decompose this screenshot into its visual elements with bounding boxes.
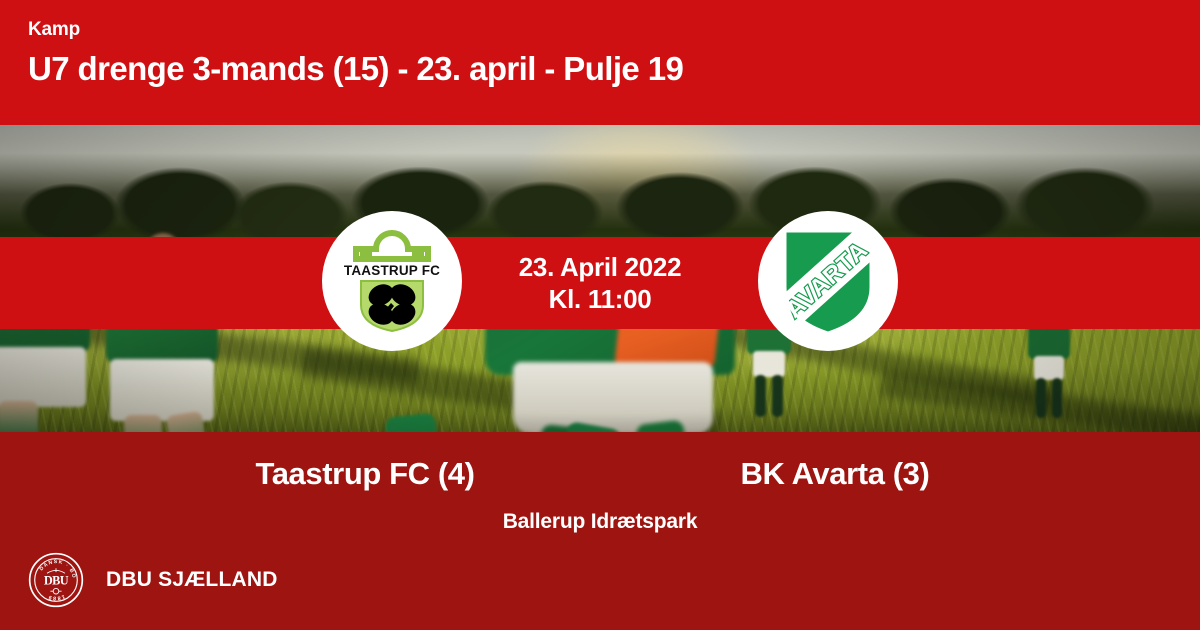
bk-avarta-crest-icon: AVARTA [775, 225, 881, 337]
match-date-band: 23. April 2022 Kl. 11:00 [0, 237, 1200, 329]
poster-header: Kamp U7 drenge 3-mands (15) - 23. april … [0, 0, 1200, 125]
photo-player-leg [560, 425, 710, 432]
away-team-crest: AVARTA [758, 211, 898, 351]
team-names-row: Taastrup FC (4) BK Avarta (3) [0, 456, 1200, 492]
home-team-name: Taastrup FC (4) [150, 456, 580, 492]
footer: DANSK · BOLDSPIL · UNION 1889 DBU DBU SJ… [28, 552, 278, 608]
home-team-crest: TAASTRUP FC [322, 211, 462, 351]
match-date: 23. April 2022 [519, 251, 682, 283]
header-kicker: Kamp [28, 19, 1172, 41]
venue-name: Ballerup Idrætspark [0, 510, 1200, 534]
federation-name: DBU SJÆLLAND [106, 568, 278, 592]
svg-text:TAASTRUP FC: TAASTRUP FC [344, 263, 440, 278]
photo-player-leg [370, 415, 490, 432]
away-team-name: BK Avarta (3) [620, 456, 1050, 492]
page-title: U7 drenge 3-mands (15) - 23. april - Pul… [28, 49, 1172, 89]
taastrup-fc-crest-icon: TAASTRUP FC [336, 225, 448, 337]
match-poster: Kamp U7 drenge 3-mands (15) - 23. april … [0, 0, 1200, 630]
svg-text:DBU: DBU [44, 573, 69, 587]
match-time: Kl. 11:00 [549, 283, 652, 315]
dbu-logo-icon: DANSK · BOLDSPIL · UNION 1889 DBU [28, 552, 84, 608]
